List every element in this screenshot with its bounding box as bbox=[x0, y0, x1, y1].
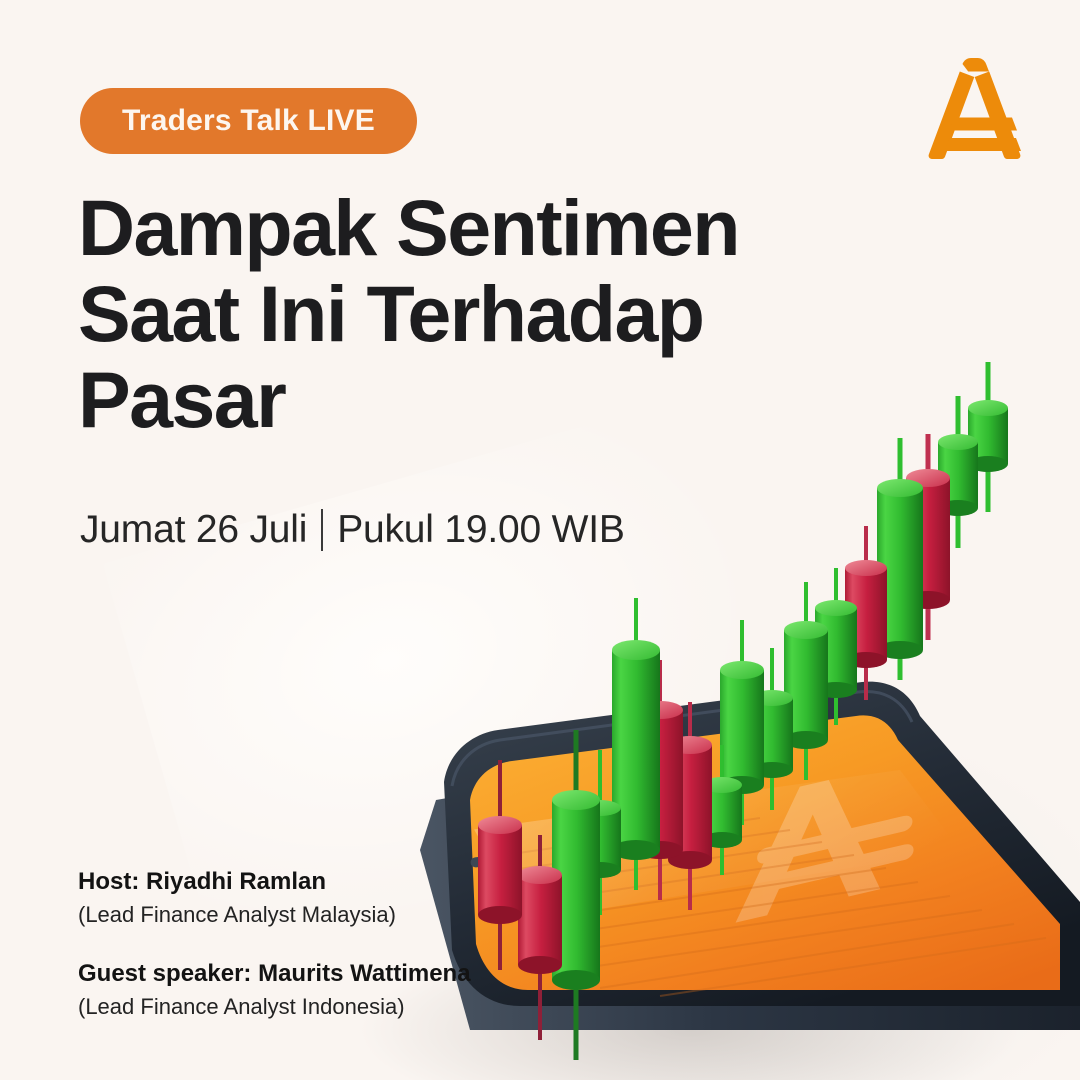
poster-canvas: Traders Talk LIVE Dampak Sentimen Saat I… bbox=[0, 0, 1080, 1080]
credit-guest: Guest speaker: Maurits Wattimena (Lead F… bbox=[78, 958, 471, 1022]
speaker-credits: Host: Riyadhi Ramlan (Lead Finance Analy… bbox=[78, 866, 471, 1050]
schedule-separator bbox=[321, 509, 323, 551]
page-title: Dampak Sentimen Saat Ini Terhadap Pasar bbox=[78, 185, 838, 443]
schedule-line: Jumat 26 Juli Pukul 19.00 WIB bbox=[80, 508, 625, 552]
guest-name: Guest speaker: Maurits Wattimena bbox=[78, 958, 471, 989]
headline-line-2: Saat Ini Terhadap bbox=[78, 271, 838, 357]
schedule-date: Jumat 26 Juli bbox=[80, 508, 307, 552]
guest-role: (Lead Finance Analyst Indonesia) bbox=[78, 992, 471, 1022]
host-name: Host: Riyadhi Ramlan bbox=[78, 866, 471, 897]
schedule-time: Pukul 19.00 WIB bbox=[337, 508, 624, 552]
credit-host: Host: Riyadhi Ramlan (Lead Finance Analy… bbox=[78, 866, 471, 930]
ascend-a-logo-icon bbox=[928, 58, 1024, 162]
headline-line-3: Pasar bbox=[78, 357, 838, 443]
live-badge: Traders Talk LIVE bbox=[80, 88, 417, 154]
headline-line-1: Dampak Sentimen bbox=[78, 185, 838, 271]
host-role: (Lead Finance Analyst Malaysia) bbox=[78, 900, 471, 930]
